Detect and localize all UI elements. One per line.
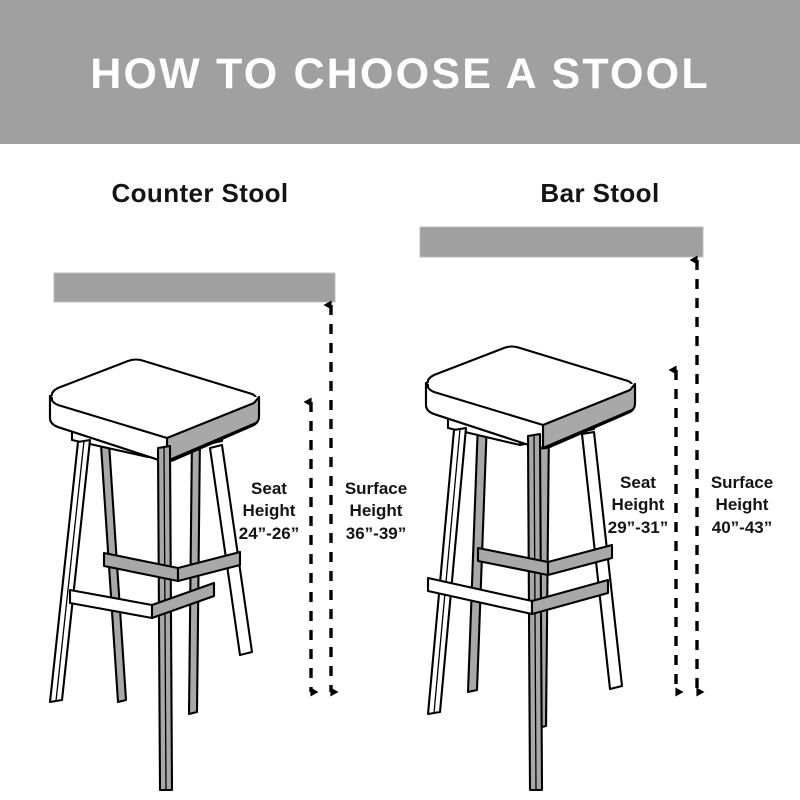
bar-seat-height-label: Seat Height 29”-31” [601, 472, 675, 539]
counter-stool-front-right-leg [210, 445, 252, 655]
bar-stool-illustration [426, 347, 635, 791]
counter-surface-height-value: 36”-39” [334, 523, 418, 545]
bar-stool-center-leg [528, 434, 542, 790]
bar-seat-height-line1: Seat [601, 472, 675, 494]
page-title: HOW TO CHOOSE A STOOL [90, 53, 710, 96]
counter-seat-height-line2: Height [232, 500, 306, 522]
bar-stool-front-left-leg [428, 428, 466, 714]
counter-seat-height-value: 24”-26” [232, 523, 306, 545]
header-banner: HOW TO CHOOSE A STOOL [0, 0, 800, 144]
counter-surface-bar [54, 273, 335, 302]
bar-stool-seat [426, 347, 635, 449]
counter-stool-center-leg [158, 446, 172, 790]
bar-surface-height-line2: Height [700, 494, 784, 516]
bar-stool-apron [448, 401, 594, 445]
counter-stool-seat [50, 360, 259, 462]
bar-stool-back-legs [468, 420, 549, 728]
counter-surface-height-label: Surface Height 36”-39” [334, 478, 418, 545]
bar-seat-height-line2: Height [601, 494, 675, 516]
counter-seat-height-line1: Seat [232, 478, 306, 500]
counter-seat-height-label: Seat Height 24”-26” [232, 478, 306, 545]
bar-stool-footrest [428, 545, 612, 614]
counter-surface-height-line2: Height [334, 500, 418, 522]
counter-stool-illustration [50, 360, 259, 791]
bar-surface-bar [420, 227, 703, 257]
counter-stool-front-left-leg [50, 440, 90, 702]
bar-stool-front-right-leg [582, 432, 622, 689]
counter-stool-heading: Counter Stool [0, 178, 400, 209]
infographic-canvas: HOW TO CHOOSE A STOOL Counter Stool Bar … [0, 0, 800, 800]
counter-stool-footrest [70, 552, 240, 618]
bar-surface-height-value: 40”-43” [700, 517, 784, 539]
counter-surface-height-line1: Surface [334, 478, 418, 500]
bar-stool-heading: Bar Stool [400, 178, 800, 209]
counter-stool-apron [72, 414, 222, 457]
bar-seat-height-value: 29”-31” [601, 517, 675, 539]
bar-surface-height-line1: Surface [700, 472, 784, 494]
counter-stool-back-legs [100, 428, 200, 714]
bar-surface-height-label: Surface Height 40”-43” [700, 472, 784, 539]
